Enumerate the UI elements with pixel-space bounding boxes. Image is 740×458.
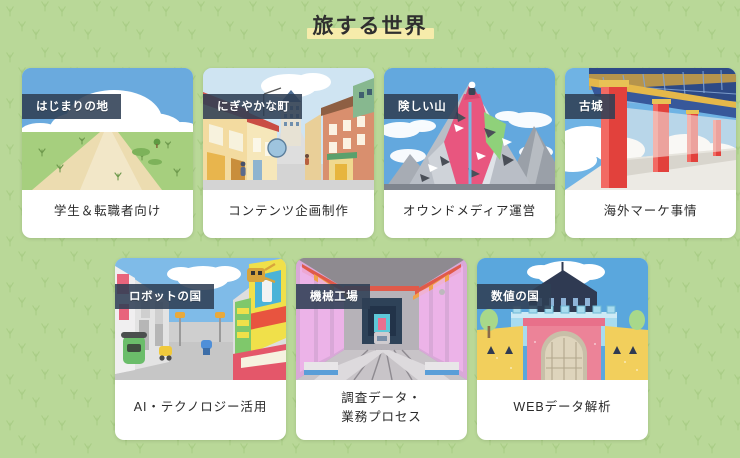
card-badge: 険しい山 — [384, 94, 458, 119]
card-kojo[interactable]: 古城 海外マーケ事情 — [565, 68, 736, 238]
card-caption-line: 調査データ・ — [341, 389, 421, 408]
card-thumbnail-rugged-mountain: 険しい山 — [384, 68, 555, 190]
card-caption: WEBデータ解析 — [477, 380, 648, 440]
card-kewashii-yama[interactable]: 険しい山 オウンドメディア運営 — [384, 68, 555, 238]
card-thumbnail-old-castle-colonnade: 古城 — [565, 68, 736, 190]
card-hajimari-no-chi[interactable]: はじまりの地 学生＆転職者向け — [22, 68, 193, 238]
card-caption: オウンドメディア運営 — [384, 190, 555, 238]
card-badge: 機械工場 — [296, 284, 370, 309]
card-thumbnail-town-street: にぎやかな町 — [203, 68, 374, 190]
card-row-2: ロボットの国 AI・テクノロジー活用 — [115, 258, 648, 440]
card-thumbnail-machine-factory: 機械工場 — [296, 258, 467, 380]
card-caption-line: 海外マーケ事情 — [604, 202, 698, 221]
page-title: 旅する世界 — [307, 14, 434, 40]
page-title-text: 旅する世界 — [313, 15, 428, 38]
card-badge: 古城 — [565, 94, 615, 119]
card-suchi-no-kuni[interactable]: 数値の国 WEBデータ解析 — [477, 258, 648, 440]
card-caption: 海外マーケ事情 — [565, 190, 736, 238]
card-robot-no-kuni[interactable]: ロボットの国 AI・テクノロジー活用 — [115, 258, 286, 440]
card-thumbnail-numbers-castle: 数値の国 — [477, 258, 648, 380]
card-badge: にぎやかな町 — [203, 94, 302, 119]
card-nigiyakana-machi[interactable]: にぎやかな町 コンテンツ企画制作 — [203, 68, 374, 238]
card-caption-line: WEBデータ解析 — [513, 398, 611, 417]
card-caption-line: 業務プロセス — [341, 408, 421, 427]
card-badge: はじまりの地 — [22, 94, 121, 119]
card-thumbnail-robot-city: ロボットの国 — [115, 258, 286, 380]
card-caption-line: 学生＆転職者向け — [54, 202, 161, 221]
card-caption: コンテンツ企画制作 — [203, 190, 374, 238]
card-caption: AI・テクノロジー活用 — [115, 380, 286, 440]
card-row-1: はじまりの地 学生＆転職者向け — [22, 68, 736, 238]
card-caption-line: オウンドメディア運営 — [403, 202, 536, 221]
card-caption-line: コンテンツ企画制作 — [228, 202, 349, 221]
card-badge: ロボットの国 — [115, 284, 214, 309]
card-kikai-kojo[interactable]: 機械工場 調査データ・ 業務プロセス — [296, 258, 467, 440]
card-badge: 数値の国 — [477, 284, 551, 309]
card-caption-line: AI・テクノロジー活用 — [134, 398, 267, 417]
card-thumbnail-meadow-path: はじまりの地 — [22, 68, 193, 190]
card-caption: 学生＆転職者向け — [22, 190, 193, 238]
card-caption: 調査データ・ 業務プロセス — [296, 380, 467, 440]
page-title-wrapper: 旅する世界 — [0, 14, 740, 40]
